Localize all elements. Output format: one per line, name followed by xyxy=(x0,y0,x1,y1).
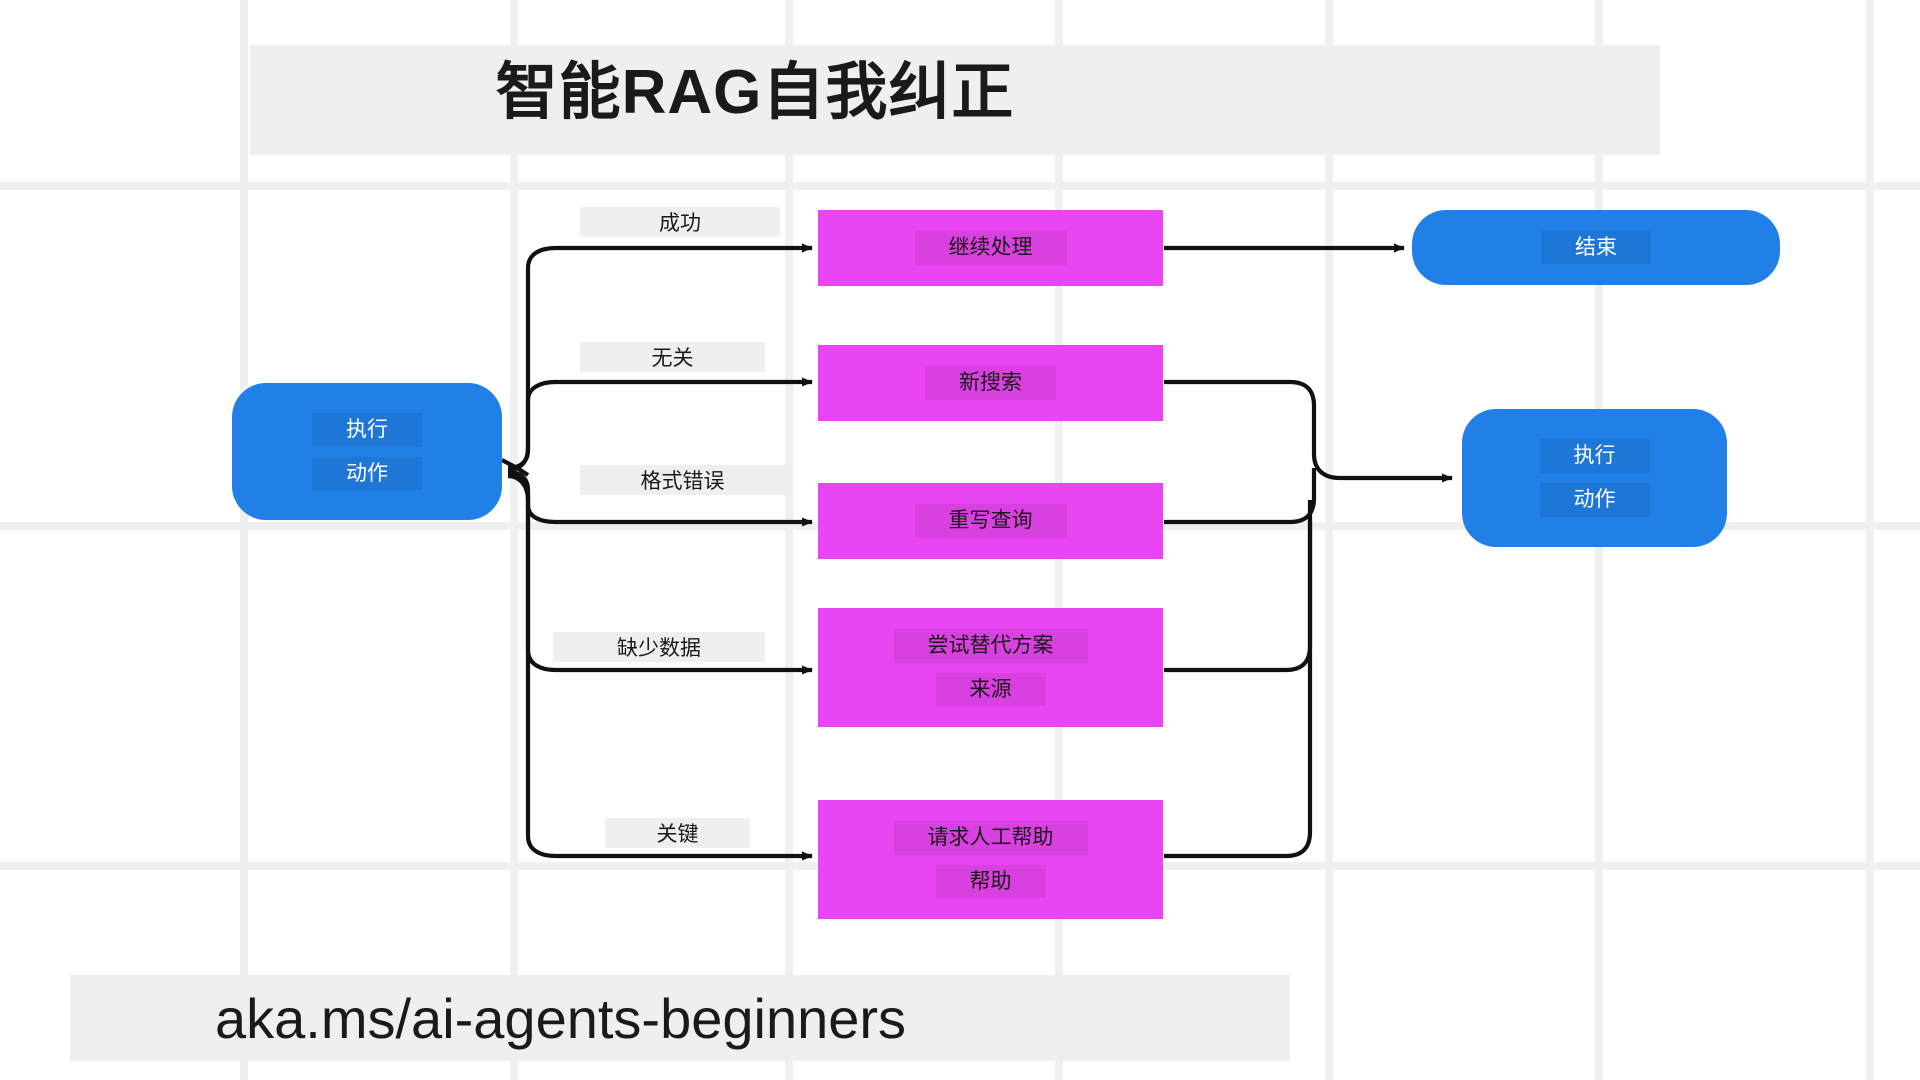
edge-label-critical: 关键 xyxy=(605,818,750,848)
grid-line-horizontal xyxy=(0,182,1920,190)
node-start-line1: 执行 xyxy=(312,413,422,447)
node-start-execute-action[interactable]: 执行 动作 xyxy=(232,383,502,520)
footer-url[interactable]: aka.ms/ai-agents-beginners xyxy=(70,975,1290,1061)
grid-line-vertical xyxy=(1325,0,1333,1080)
node-loop-execute-action[interactable]: 执行 动作 xyxy=(1462,409,1727,547)
node-continue-processing[interactable]: 继续处理 xyxy=(818,210,1163,286)
node-try-alternate-sources[interactable]: 尝试替代方案 来源 xyxy=(818,608,1163,727)
diagram-canvas: 智能RAG自我纠正 xyxy=(0,0,1920,1080)
node-end[interactable]: 结束 xyxy=(1412,210,1780,285)
edge-human-to-loop xyxy=(1164,520,1310,856)
edge-label-format-error: 格式错误 xyxy=(580,465,785,495)
node-end-line1: 结束 xyxy=(1541,231,1651,265)
node-continue-line1: 继续处理 xyxy=(915,231,1067,265)
node-human-line1: 请求人工帮助 xyxy=(894,821,1088,855)
node-loop-line2: 动作 xyxy=(1540,483,1650,517)
node-human-line2: 帮助 xyxy=(936,865,1046,899)
edge-critical xyxy=(508,476,812,856)
node-rewrite-query[interactable]: 重写查询 xyxy=(818,483,1163,559)
edge-label-success: 成功 xyxy=(580,207,780,237)
grid-line-vertical xyxy=(785,0,793,1080)
edge-label-missing-data: 缺少数据 xyxy=(553,632,765,662)
node-new-search-line1: 新搜索 xyxy=(925,366,1056,400)
node-alternate-line1: 尝试替代方案 xyxy=(894,629,1088,663)
edge-irrelevant xyxy=(508,382,812,468)
node-new-search[interactable]: 新搜索 xyxy=(818,345,1163,421)
grid-line-vertical xyxy=(510,0,518,1080)
node-rewrite-line1: 重写查询 xyxy=(915,504,1067,538)
grid-line-vertical xyxy=(1866,0,1874,1080)
edge-rewrite-to-loop xyxy=(1164,468,1314,522)
grid-line-vertical xyxy=(240,0,248,1080)
node-request-human-help[interactable]: 请求人工帮助 帮助 xyxy=(818,800,1163,919)
edge-new-search-to-loop xyxy=(1164,382,1452,478)
edge-label-irrelevant: 无关 xyxy=(580,342,765,372)
node-alternate-line2: 来源 xyxy=(936,673,1046,707)
page-title: 智能RAG自我纠正 xyxy=(250,45,1260,127)
node-start-line2: 动作 xyxy=(312,457,422,491)
node-loop-line1: 执行 xyxy=(1540,439,1650,473)
